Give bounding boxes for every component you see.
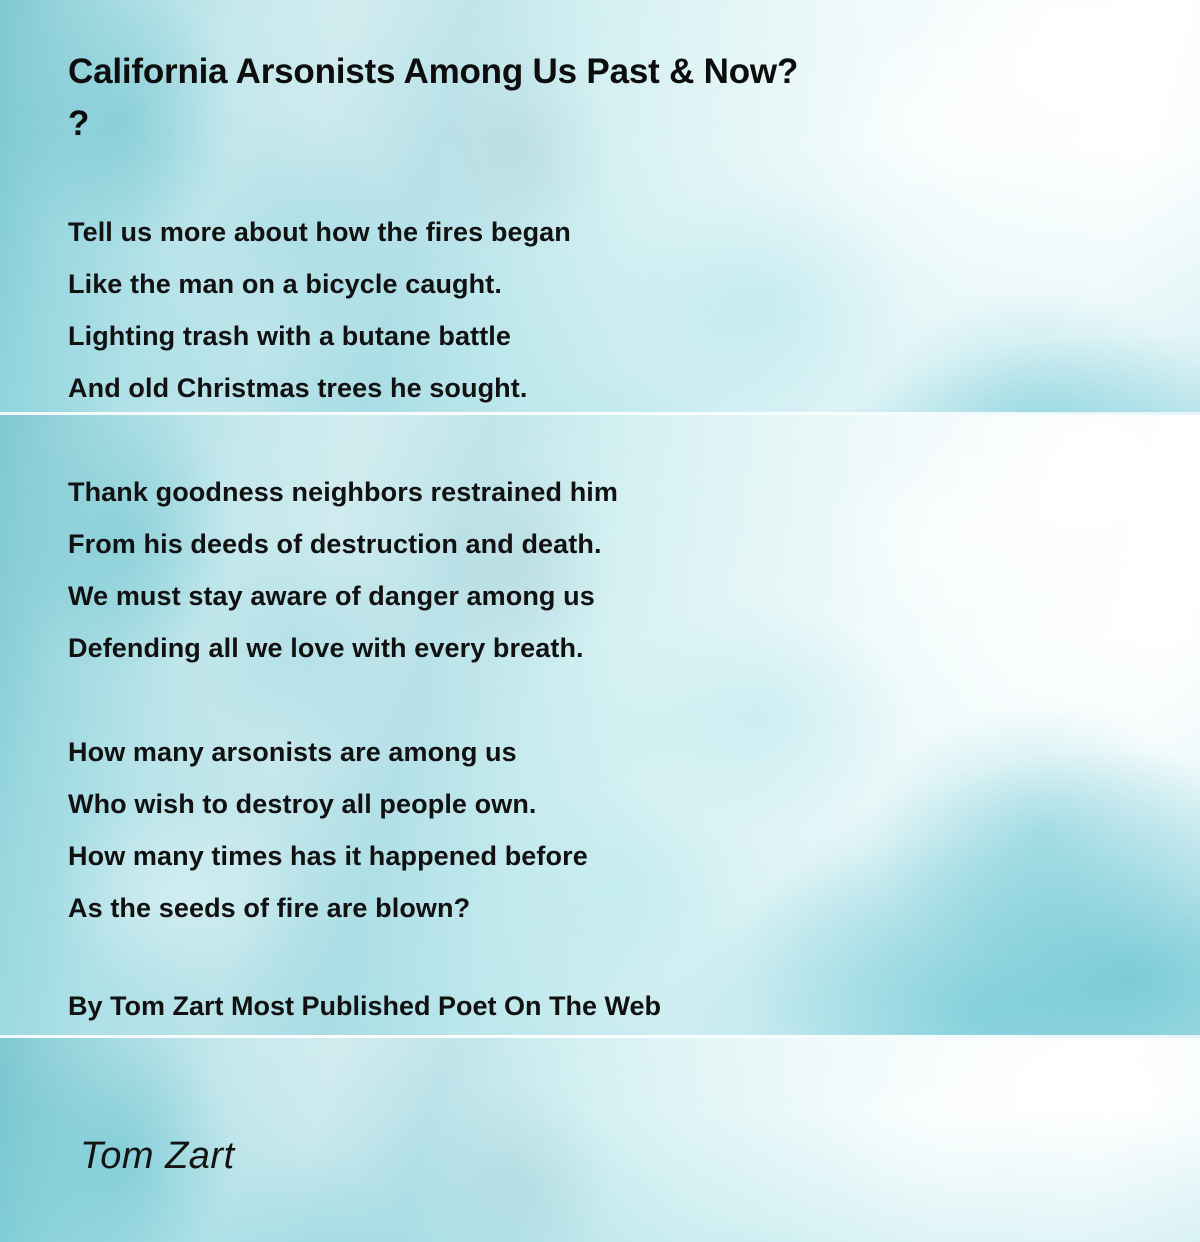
poem-stanza-3: How many arsonists are among us Who wish…	[68, 726, 1128, 934]
poem-line: Defending all we love with every breath.	[68, 622, 1128, 674]
poem-content: California Arsonists Among Us Past & Now…	[0, 0, 1200, 1242]
poem-stanza-2: Thank goodness neighbors restrained him …	[68, 466, 1128, 674]
poem-title: California Arsonists Among Us Past & Now…	[68, 46, 1148, 150]
poem-line: How many times has it happened before	[68, 830, 1128, 882]
poem-stanza-1: Tell us more about how the fires began L…	[68, 206, 1128, 414]
poem-line: Who wish to destroy all people own.	[68, 778, 1128, 830]
poem-line: Tell us more about how the fires began	[68, 206, 1128, 258]
poet-signature: Tom Zart	[80, 1133, 235, 1179]
poem-line: As the seeds of fire are blown?	[68, 882, 1128, 934]
poem-line: We must stay aware of danger among us	[68, 570, 1128, 622]
poem-byline: By Tom Zart Most Published Poet On The W…	[68, 986, 661, 1026]
poem-line: From his deeds of destruction and death.	[68, 518, 1128, 570]
poem-line: How many arsonists are among us	[68, 726, 1128, 778]
poem-line: Thank goodness neighbors restrained him	[68, 466, 1128, 518]
poem-line: Like the man on a bicycle caught.	[68, 258, 1128, 310]
poem-page: California Arsonists Among Us Past & Now…	[0, 0, 1200, 1242]
poem-line: And old Christmas trees he sought.	[68, 362, 1128, 414]
poem-line: Lighting trash with a butane battle	[68, 310, 1128, 362]
